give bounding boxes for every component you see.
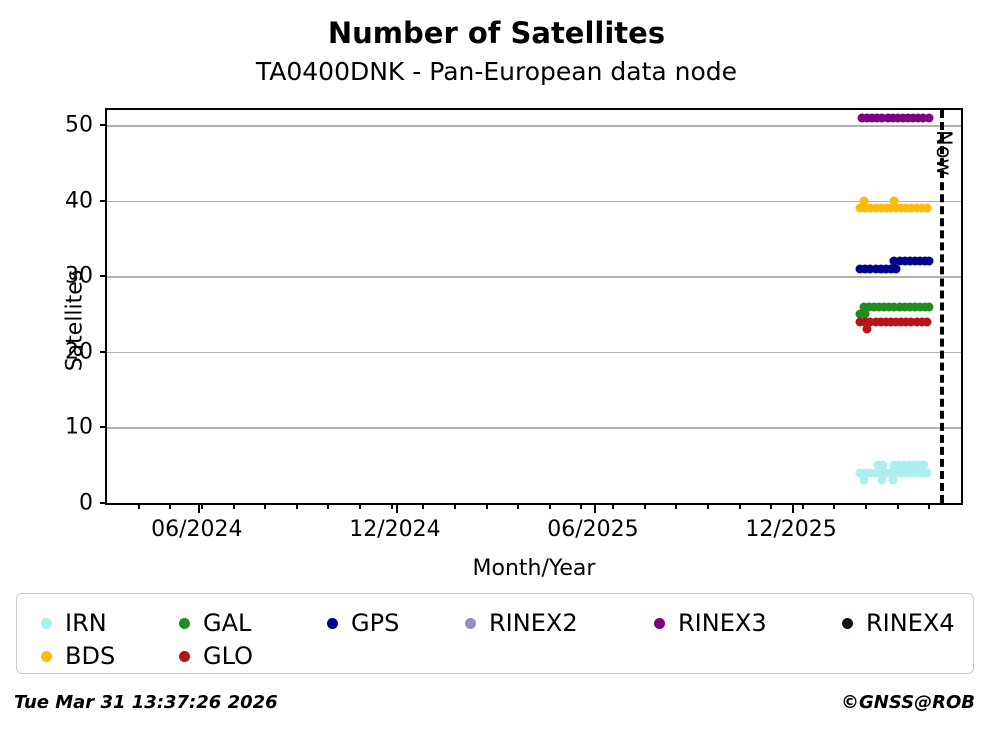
x-axis-tick-label: 12/2024 <box>349 517 440 542</box>
page-title: Number of Satellites <box>0 16 993 50</box>
x-axis-minor-tick <box>138 503 140 509</box>
x-axis-minor-tick <box>833 503 835 509</box>
x-axis-major-tick <box>594 503 596 513</box>
y-axis-tick <box>100 502 107 504</box>
data-point-bds <box>922 204 931 213</box>
legend-label: RINEX4 <box>866 611 955 635</box>
x-axis-minor-tick <box>865 503 867 509</box>
data-point-irn <box>859 476 868 485</box>
data-point-irn <box>888 476 897 485</box>
legend-item-rinex3[interactable]: RINEX3 <box>654 611 767 635</box>
x-axis-minor-tick <box>612 503 614 509</box>
x-axis-minor-tick <box>739 503 741 509</box>
x-axis-minor-tick <box>580 503 582 509</box>
y-axis-tick <box>100 200 107 202</box>
legend-marker-icon <box>41 618 52 629</box>
legend-label: GPS <box>351 611 399 635</box>
y-gridline <box>107 276 961 278</box>
y-axis-tick-label: 10 <box>53 415 93 440</box>
legend-item-rinex2[interactable]: RINEX2 <box>465 611 578 635</box>
x-axis-minor-tick <box>454 503 456 509</box>
x-axis-minor-tick <box>201 503 203 509</box>
y-axis-tick-label: 20 <box>53 339 93 364</box>
legend-marker-icon <box>327 618 338 629</box>
x-axis-minor-tick <box>802 503 804 509</box>
plot-area: Satellites Now 01020304050 <box>105 108 963 505</box>
legend-item-irn[interactable]: IRN <box>41 611 107 635</box>
x-axis-tick-label: 06/2024 <box>151 517 242 542</box>
plot-canvas: Now <box>107 110 961 503</box>
data-point-rinex3 <box>924 113 933 122</box>
legend-item-glo[interactable]: GLO <box>179 644 253 668</box>
legend-marker-icon <box>179 618 190 629</box>
x-axis-minor-tick <box>675 503 677 509</box>
legend-label: RINEX2 <box>489 611 578 635</box>
x-axis-minor-tick <box>707 503 709 509</box>
x-axis-major-tick <box>792 503 794 513</box>
y-axis-tick <box>100 351 107 353</box>
x-axis-major-tick <box>198 503 200 513</box>
y-axis-tick-label: 0 <box>53 491 93 516</box>
data-point-irn <box>878 476 887 485</box>
now-marker-label: Now <box>932 130 956 176</box>
x-axis-minor-tick <box>486 503 488 509</box>
y-axis-tick <box>100 275 107 277</box>
x-axis-minor-tick <box>517 503 519 509</box>
x-axis-minor-tick <box>359 503 361 509</box>
x-axis-minor-tick <box>264 503 266 509</box>
legend-label: IRN <box>65 611 107 635</box>
data-point-glo <box>922 317 931 326</box>
data-point-irn <box>922 468 931 477</box>
copyright-text: ©GNSS@ROB <box>841 692 975 713</box>
x-axis-tick-label: 12/2025 <box>745 517 836 542</box>
chart-legend: IRNGALGPSRINEX2RINEX3RINEX4BDSGLO <box>16 593 974 674</box>
x-axis-minor-tick <box>233 503 235 509</box>
y-axis-tick-label: 50 <box>53 113 93 138</box>
x-axis-minor-tick <box>169 503 171 509</box>
legend-marker-icon <box>41 651 52 662</box>
y-axis-tick-label: 40 <box>53 188 93 213</box>
legend-item-rinex4[interactable]: RINEX4 <box>842 611 955 635</box>
legend-label: GAL <box>203 611 251 635</box>
x-axis-label: Month/Year <box>105 556 963 581</box>
legend-marker-icon <box>465 618 476 629</box>
legend-item-gal[interactable]: GAL <box>179 611 251 635</box>
x-axis-major-tick <box>396 503 398 513</box>
legend-label: GLO <box>203 644 253 668</box>
y-axis-tick <box>100 426 107 428</box>
x-axis-minor-tick <box>549 503 551 509</box>
legend-item-bds[interactable]: BDS <box>41 644 115 668</box>
legend-label: RINEX3 <box>678 611 767 635</box>
page-subtitle: TA0400DNK - Pan-European data node <box>0 57 993 86</box>
x-axis-minor-tick <box>391 503 393 509</box>
x-axis-minor-tick <box>770 503 772 509</box>
legend-marker-icon <box>654 618 665 629</box>
y-axis-tick-label: 30 <box>53 264 93 289</box>
y-gridline <box>107 352 961 354</box>
x-axis-tick-label: 06/2025 <box>547 517 638 542</box>
x-axis-minor-tick <box>296 503 298 509</box>
x-axis-minor-tick <box>928 503 930 509</box>
y-axis-tick <box>100 124 107 126</box>
y-gridline <box>107 201 961 203</box>
x-axis-minor-tick <box>327 503 329 509</box>
chart-page: Number of Satellites TA0400DNK - Pan-Eur… <box>0 0 993 734</box>
legend-item-gps[interactable]: GPS <box>327 611 399 635</box>
data-point-gps <box>924 257 933 266</box>
y-gridline <box>107 427 961 429</box>
x-axis-minor-tick <box>422 503 424 509</box>
timestamp-text: Tue Mar 31 13:37:26 2026 <box>14 692 278 713</box>
y-gridline <box>107 125 961 127</box>
x-axis-minor-tick <box>897 503 899 509</box>
legend-marker-icon <box>179 651 190 662</box>
legend-marker-icon <box>842 618 853 629</box>
x-axis-minor-tick <box>644 503 646 509</box>
data-point-gal <box>924 302 933 311</box>
legend-label: BDS <box>65 644 115 668</box>
